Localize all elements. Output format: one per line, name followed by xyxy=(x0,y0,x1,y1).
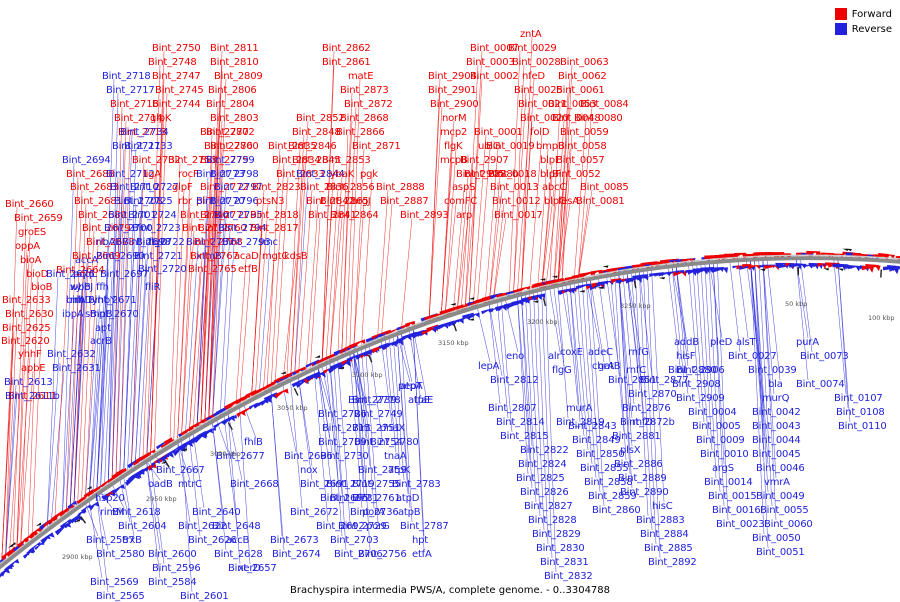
label-leader-line xyxy=(306,204,318,373)
gene-label[interactable]: Bint_0013 xyxy=(490,183,539,193)
gene-label[interactable]: ibpA xyxy=(62,310,84,320)
gene-label[interactable]: Bint_2749 xyxy=(354,410,403,420)
gene-label[interactable]: xerD xyxy=(238,564,261,574)
gene-label[interactable]: Bint_2783 xyxy=(392,480,441,490)
gene-label[interactable]: Bint_0080 xyxy=(574,114,623,124)
gene-label[interactable]: apt xyxy=(95,324,111,334)
gene-label[interactable]: Bint_2733 xyxy=(124,142,173,152)
label-leader-line xyxy=(263,259,274,394)
label-leader-line xyxy=(457,218,468,313)
gene-label[interactable]: Bint_0044 xyxy=(752,436,801,446)
gene-label[interactable]: Bint_0058 xyxy=(558,142,607,152)
label-leader-line xyxy=(326,364,338,480)
gene-label[interactable]: yhhF xyxy=(18,350,42,360)
gene-label[interactable]: Bint_2868 xyxy=(340,114,389,124)
legend-label-forward: Forward xyxy=(852,9,892,20)
label-leader-line xyxy=(401,218,412,333)
gene-label[interactable]: Bint_2787 xyxy=(400,522,449,532)
gene-label[interactable]: Bint_2893 xyxy=(400,211,449,221)
gene-label[interactable]: Bint_2826 xyxy=(520,488,569,498)
gene-label[interactable]: Bint_2861 xyxy=(322,58,371,68)
gene-label[interactable]: Bint_2730 xyxy=(320,452,369,462)
gene-label[interactable]: pgk xyxy=(360,170,378,180)
gene-label[interactable]: atpB xyxy=(398,508,420,518)
gene-label[interactable]: tfaE xyxy=(414,396,433,406)
gene-label[interactable]: Bint_2618 xyxy=(112,508,161,518)
gene-label[interactable]: glpK xyxy=(150,114,171,124)
gene-label[interactable]: hsp20 xyxy=(95,494,125,504)
gene-label[interactable]: Bint_2828 xyxy=(528,516,577,526)
axis-tick-label: 3150 kbp xyxy=(438,339,469,347)
gene-label[interactable]: Bint_2640 xyxy=(192,508,241,518)
gene-label[interactable]: Bint_2866 xyxy=(336,128,385,138)
gene-label[interactable]: argS xyxy=(712,464,734,474)
gene-label[interactable]: coxE xyxy=(560,348,583,358)
gene-label[interactable]: Bint_0074 xyxy=(796,380,845,390)
gene-label[interactable]: Bint_0016 xyxy=(712,506,761,516)
gene-label[interactable]: Bint_2756 xyxy=(358,550,407,560)
gene-label[interactable]: Bint_2667 xyxy=(156,466,205,476)
gene-label[interactable]: Bint_0045 xyxy=(752,450,801,460)
gene-label[interactable]: Bint_2674 xyxy=(272,550,321,560)
gene-label[interactable]: hpt xyxy=(412,536,428,546)
gene-label[interactable]: Bint_0001 xyxy=(474,128,523,138)
rna-feature-marker xyxy=(36,523,41,527)
gene-label[interactable]: adeC xyxy=(588,348,613,358)
gene-label[interactable]: Bint_0055 xyxy=(760,506,809,516)
label-leader-line xyxy=(429,93,440,322)
gene-label[interactable]: oppA xyxy=(15,242,40,252)
gene-label[interactable]: Bint_2885 xyxy=(644,544,693,554)
gene-label[interactable]: Bint_0012 xyxy=(492,197,541,207)
gene-label[interactable]: acaD xyxy=(234,252,259,262)
gene-label[interactable]: Bint_2676 xyxy=(46,270,95,280)
gene-label[interactable]: Bint_0107 xyxy=(834,394,883,404)
gene-label[interactable]: Bint_2630 xyxy=(5,310,54,320)
gene-label[interactable]: Bint_2888 xyxy=(376,183,425,193)
gene-label[interactable]: Bint_0039 xyxy=(748,366,797,376)
gene-label[interactable]: Bint_2862 xyxy=(322,44,371,54)
rna-feature-marker xyxy=(280,371,285,374)
gene-label[interactable]: folD xyxy=(530,128,549,138)
gene-label[interactable]: Bint_0081 xyxy=(576,197,625,207)
axis-tick-label: 3200 kbp xyxy=(527,318,558,326)
gene-label[interactable]: Bint_2887 xyxy=(380,197,429,207)
gene-label[interactable]: Bint_2804 xyxy=(206,100,255,110)
gene-label[interactable]: Bint_2831 xyxy=(540,558,589,568)
label-leader-line xyxy=(578,204,588,281)
gene-label[interactable]: Bint_2632 xyxy=(47,350,96,360)
gene-label[interactable]: Bint_2901 xyxy=(428,86,477,96)
gene-label[interactable]: Bint_2724 xyxy=(128,211,177,221)
gene-label[interactable]: nox xyxy=(300,466,317,476)
gene-label[interactable]: argJ xyxy=(352,197,371,207)
gene-label[interactable]: dnaX xyxy=(380,424,405,434)
gene-label[interactable]: Bint_2799 xyxy=(206,156,255,166)
gene-label[interactable]: Bint_2889 xyxy=(618,474,667,484)
rna-feature-marker xyxy=(86,486,91,489)
gene-label[interactable]: Bint_0050 xyxy=(752,534,801,544)
gene-label[interactable]: Bint_2909 xyxy=(676,394,725,404)
gene-label[interactable]: Bint_2827 xyxy=(524,502,573,512)
gene-label[interactable]: Bint_0029 xyxy=(508,44,557,54)
gene-label[interactable]: Bint_2900 xyxy=(430,100,479,110)
gene-label[interactable]: Bint_2906 xyxy=(676,366,725,376)
label-leader-line xyxy=(381,204,392,340)
gene-label[interactable]: Bint_0010 xyxy=(700,450,749,460)
gene-label[interactable]: Bint_2825 xyxy=(516,474,565,484)
axis-tick-label: 3000 kbp xyxy=(210,450,241,458)
gene-label[interactable]: gatB xyxy=(598,362,620,372)
axis-tick-label: 2900 kbp xyxy=(62,553,93,561)
gene-label[interactable]: zntA xyxy=(520,30,542,40)
gene-label[interactable]: Bint_2856 xyxy=(326,183,375,193)
gene-label[interactable]: flgK xyxy=(444,142,462,152)
gene-label[interactable]: Bint_2807 xyxy=(488,404,537,414)
legend-item-forward[interactable]: Forward xyxy=(835,8,892,20)
axis-tick-mark xyxy=(294,388,298,395)
gene-label[interactable]: acrB xyxy=(90,337,112,347)
gene-label[interactable]: Bint_2725 xyxy=(124,197,173,207)
gene-label[interactable]: Bint_2815 xyxy=(500,432,549,442)
label-leader-line xyxy=(5,392,17,563)
gene-label[interactable]: Bint_0062 xyxy=(558,72,607,82)
gene-label[interactable]: Bint_2892 xyxy=(648,558,697,568)
gene-label[interactable]: Bint_2671 xyxy=(88,296,137,306)
gene-label[interactable]: purA xyxy=(796,338,819,348)
label-leader-line xyxy=(108,93,118,487)
gene-label[interactable]: Bint_0057 xyxy=(556,156,605,166)
gene-label[interactable]: Bint_0017 xyxy=(494,211,543,221)
gene-label[interactable]: Bint_2596 xyxy=(152,564,201,574)
gene-label[interactable]: Bint_2633 xyxy=(2,296,51,306)
gene-label[interactable]: Bint_0110 xyxy=(838,422,887,432)
gene-label[interactable]: rnfG xyxy=(628,348,649,358)
gene-label[interactable]: bioD xyxy=(26,270,48,280)
gene-label[interactable]: bioA xyxy=(20,256,41,266)
gene-label[interactable]: arp xyxy=(456,211,472,221)
label-leader-line xyxy=(627,272,640,348)
gene-label[interactable]: apbE xyxy=(21,364,45,374)
gene-label[interactable]: groES xyxy=(18,228,46,238)
gene-label[interactable]: pepT xyxy=(398,382,422,392)
gene-label[interactable]: matE xyxy=(348,72,373,82)
gene-label[interactable]: Bint_2723 xyxy=(132,224,181,234)
gene-label[interactable]: Bint_2613 xyxy=(4,378,53,388)
label-leader-line xyxy=(834,258,846,394)
gene-label[interactable]: Bint_2810 xyxy=(210,58,259,68)
gene-label[interactable]: Bint_2604 xyxy=(118,522,167,532)
gene-label[interactable]: Bint_0084 xyxy=(580,100,629,110)
gene-label[interactable]: Bint_2802 xyxy=(206,128,255,138)
gene-label[interactable]: Bint_2809 xyxy=(214,72,263,82)
gene-label[interactable]: Bint_2798 xyxy=(210,170,259,180)
axis-tick-label: 50 kbp xyxy=(785,300,807,308)
gene-label[interactable]: Bint_0061 xyxy=(556,86,605,96)
gene-label[interactable]: wbbJ xyxy=(70,283,93,293)
gene-label[interactable]: Bint_0051 xyxy=(756,548,805,558)
gene-label[interactable]: lepA xyxy=(478,362,499,372)
gene-label[interactable]: Bint_0046 xyxy=(756,464,805,474)
gene-label[interactable]: Bint_2747 xyxy=(152,72,201,82)
gene-label[interactable]: Bint_2803 xyxy=(210,114,259,124)
gene-label[interactable]: Bint_2884 xyxy=(640,530,689,540)
gene-label[interactable]: Bint_2848 xyxy=(292,128,341,138)
genome-map-viewport[interactable]: Bint_2660Bint_2659groESoppAbioAbioDbioBB… xyxy=(0,0,900,600)
axis-tick-label: 3050 kbp xyxy=(277,404,308,412)
gene-label[interactable]: Bint_2767 xyxy=(190,252,239,262)
gene-label[interactable]: Bint_2876 xyxy=(622,404,671,414)
axis-tick-mark xyxy=(544,298,546,306)
gene-label[interactable]: aspS xyxy=(452,183,475,193)
gene-label[interactable]: Bint_0060 xyxy=(764,520,813,530)
gene-label[interactable]: Bint_2673 xyxy=(270,536,319,546)
gene-label[interactable]: Bint_2886 xyxy=(614,460,663,470)
gene-label[interactable]: Bint_2908 xyxy=(672,380,721,390)
gene-label[interactable]: Bint_2765 xyxy=(188,265,237,275)
gene-label[interactable]: glpF xyxy=(172,183,192,193)
gene-label[interactable]: alr xyxy=(548,352,560,362)
rna-feature-marker xyxy=(603,265,609,267)
label-leader-line xyxy=(66,303,78,516)
gene-label[interactable]: Bint_0063 xyxy=(560,58,609,68)
gene-label[interactable]: Bint_2580 xyxy=(96,550,145,560)
gene-label[interactable]: Bint_2722 xyxy=(136,238,185,248)
gene-label[interactable]: Bint_0085 xyxy=(580,183,629,193)
gene-label[interactable]: Bint_2720 xyxy=(138,265,187,275)
gene-label[interactable]: Bint_0043 xyxy=(752,422,801,432)
gene-label[interactable]: Bint_2873 xyxy=(340,86,389,96)
gene-label[interactable]: Bint_0015 xyxy=(708,492,757,502)
gene-label[interactable]: Bint_2628 xyxy=(214,550,263,560)
gene-label[interactable]: bioB xyxy=(31,283,52,293)
gene-label[interactable]: Bint_0052 xyxy=(552,170,601,180)
gene-label[interactable]: hisC xyxy=(652,502,673,512)
gene-label[interactable]: Bint_2703 xyxy=(330,536,379,546)
label-leader-line xyxy=(9,399,20,560)
gene-label[interactable]: Bint_2864 xyxy=(330,211,379,221)
gene-label[interactable]: Bint_2860 xyxy=(592,506,641,516)
gene-label[interactable]: alsT xyxy=(736,338,755,348)
gene-label[interactable]: Bint_2800 xyxy=(210,142,259,152)
gene-label[interactable]: murQ xyxy=(762,394,789,404)
gene-label[interactable]: Bint_2718 xyxy=(102,72,151,82)
gene-label[interactable]: etfA xyxy=(412,550,432,560)
gene-label[interactable]: Bint_2660 xyxy=(5,200,54,210)
gene-label[interactable]: Bint_2625 xyxy=(2,324,51,334)
gene-label[interactable]: Bint_2748 xyxy=(148,58,197,68)
gene-label[interactable]: atpD xyxy=(396,494,419,504)
gene-label[interactable]: Bint_0018 xyxy=(488,170,537,180)
label-leader-line xyxy=(244,404,257,438)
gene-label[interactable]: Bint_2818 xyxy=(250,211,299,221)
gene-label[interactable]: ffh xyxy=(96,283,109,293)
gene-label[interactable]: Bint_2812 xyxy=(490,376,539,386)
gene-label[interactable]: rbr xyxy=(178,197,192,207)
axis-tick-label: 100 kbp xyxy=(868,314,895,322)
gene-label[interactable]: fliR xyxy=(145,283,160,293)
legend-label-reverse: Reverse xyxy=(852,24,892,35)
gene-label[interactable]: Bint_0027 xyxy=(728,352,777,362)
gene-label[interactable]: Bint_2824 xyxy=(518,460,567,470)
gene-label[interactable]: porG xyxy=(366,522,390,532)
gene-label[interactable]: plsX xyxy=(620,446,640,456)
gene-label[interactable]: flgG xyxy=(552,366,572,376)
genome-caption: Brachyspira intermedia PWS/A, complete g… xyxy=(0,585,900,596)
gene-label[interactable]: rnfD xyxy=(632,418,653,428)
label-leader-line xyxy=(566,284,578,404)
gene-label[interactable]: fhlB xyxy=(244,438,263,448)
gene-label[interactable]: Bint_2871 xyxy=(352,142,401,152)
gene-label[interactable]: Bint_0019 xyxy=(486,142,535,152)
gene-label[interactable]: Bint_0003 xyxy=(466,58,515,68)
gene-label[interactable]: Bint_2830 xyxy=(536,544,585,554)
label-leader-line xyxy=(586,280,600,492)
gene-label[interactable]: Bint_2829 xyxy=(532,530,581,540)
gene-label[interactable]: Bint_0002 xyxy=(470,72,519,82)
gene-label[interactable]: ribD xyxy=(72,296,92,306)
gene-label[interactable]: Bint_2817 xyxy=(250,224,299,234)
gene-label[interactable]: ptsN3 xyxy=(256,197,284,207)
label-leader-line xyxy=(236,259,246,408)
gene-label[interactable]: Bint_2853 xyxy=(322,156,371,166)
axis-tick-label: 3100 kbp xyxy=(352,371,383,379)
gene-label[interactable]: hisF xyxy=(676,352,695,362)
label-leader-line xyxy=(271,390,284,550)
label-leader-line xyxy=(330,218,342,362)
rna-feature-marker xyxy=(823,268,829,270)
gene-label[interactable]: addB xyxy=(674,338,699,348)
gene-label[interactable]: norM xyxy=(442,114,466,124)
gene-label[interactable]: ybaK xyxy=(330,170,354,180)
gene-label[interactable]: Bint_2631 xyxy=(52,364,101,374)
gene-label[interactable]: vmrA xyxy=(764,478,790,488)
forward-color-swatch xyxy=(835,8,847,20)
gene-label[interactable]: etfB xyxy=(238,265,258,275)
gene-label[interactable]: Bint_0049 xyxy=(756,492,805,502)
gene-label[interactable]: Bint_0059 xyxy=(560,128,609,138)
gene-label[interactable]: Bint_2620 xyxy=(1,337,50,347)
rna-feature-marker xyxy=(579,290,585,292)
gene-label[interactable]: Bint_2780 xyxy=(370,438,419,448)
gene-label[interactable]: Bint_0028 xyxy=(512,58,561,68)
gene-label[interactable]: oadB xyxy=(148,480,173,490)
rna-feature-marker xyxy=(314,355,319,357)
gene-label[interactable]: Bint_2907 xyxy=(460,156,509,166)
gene-label[interactable]: kdsB xyxy=(284,252,307,262)
gene-label[interactable]: Bint_2890 xyxy=(620,488,669,498)
gene-label[interactable]: atpK xyxy=(388,466,410,476)
gene-label[interactable]: Bint_0023 xyxy=(716,520,765,530)
label-leader-line xyxy=(489,303,500,404)
gene-label[interactable]: ligA xyxy=(143,170,161,180)
gene-label[interactable]: comFC xyxy=(444,197,477,207)
legend-item-reverse[interactable]: Reverse xyxy=(835,23,892,35)
axis-tick-label: 3250 kbp xyxy=(620,302,651,310)
rna-feature-marker xyxy=(760,269,766,271)
gene-label[interactable]: abcC xyxy=(542,183,566,193)
gene-label[interactable]: Bint_2852 xyxy=(296,114,345,124)
label-leader-line xyxy=(228,413,242,480)
label-leader-line xyxy=(672,266,686,338)
gene-label[interactable]: Bint_2870 xyxy=(628,390,677,400)
gene-label[interactable]: Bint_2750 xyxy=(152,44,201,54)
gene-label[interactable]: mcp2 xyxy=(440,128,467,138)
gene-arrow xyxy=(712,267,728,273)
gene-label[interactable]: Bint_2883 xyxy=(636,516,685,526)
gene-arrow xyxy=(848,265,861,271)
gene-label[interactable]: Bint_0073 xyxy=(800,352,849,362)
gene-label[interactable]: bla xyxy=(768,380,783,390)
gene-label[interactable]: ribAB xyxy=(96,238,122,248)
gene-label[interactable]: porA xyxy=(362,508,385,518)
strand-legend: Forward Reverse xyxy=(835,8,892,35)
label-leader-line xyxy=(493,218,506,302)
gene-label[interactable]: Bint_2587 xyxy=(86,536,135,546)
gene-label[interactable]: Bint_2778 xyxy=(352,396,401,406)
gene-label[interactable]: Bint_2668 xyxy=(230,480,279,490)
gene-label[interactable]: murA xyxy=(566,404,592,414)
gene-label[interactable]: Bint_2811 xyxy=(210,44,259,54)
gene-label[interactable]: Bint_2872 xyxy=(344,100,393,110)
gene-label[interactable]: Bint_2846 xyxy=(288,142,337,152)
gene-label[interactable]: Bint_2670 xyxy=(90,310,139,320)
label-leader-line xyxy=(70,290,82,514)
gene-label[interactable]: mtrC xyxy=(178,480,202,490)
gene-label[interactable]: Bint_2823 xyxy=(252,183,301,193)
gene-label[interactable]: Bint_0005 xyxy=(692,422,741,432)
gene-label[interactable]: Bint_2659 xyxy=(14,214,63,224)
gene-label[interactable]: Bint_2843 xyxy=(568,422,617,432)
gene-label[interactable]: Bint_0004 xyxy=(688,408,737,418)
gene-label[interactable]: Bint_2796 xyxy=(210,197,259,207)
gene-label[interactable]: Bint_2721 xyxy=(134,252,183,262)
gene-label[interactable]: Bint_2611b xyxy=(5,392,60,402)
gene-label[interactable]: Bint_2672 xyxy=(290,508,339,518)
gene-label[interactable]: Bint_2832 xyxy=(544,572,593,582)
axis-tick-mark xyxy=(881,270,882,278)
gene-label[interactable]: tnaA xyxy=(384,452,406,462)
label-leader-line xyxy=(738,260,748,338)
gene-label[interactable]: Bint_0042 xyxy=(752,408,801,418)
gene-label[interactable]: Bint_2822 xyxy=(520,446,569,456)
label-leader-line xyxy=(240,272,250,406)
gene-label[interactable]: pleD xyxy=(710,338,732,348)
gene-label[interactable]: Bint_0108 xyxy=(836,408,885,418)
reverse-color-swatch xyxy=(835,23,847,35)
gene-label[interactable]: Bint_2761 xyxy=(352,494,401,504)
rna-feature-marker xyxy=(659,277,665,279)
gene-label[interactable]: Bint_2600 xyxy=(148,550,197,560)
gene-label[interactable]: Bint_0009 xyxy=(696,436,745,446)
gene-label[interactable]: Bint_2881 xyxy=(612,432,661,442)
gene-label[interactable]: Bint_2744 xyxy=(152,100,201,110)
gene-label[interactable]: Bint_2814 xyxy=(496,418,545,428)
gene-label[interactable]: smc xyxy=(258,238,278,248)
gene-label[interactable]: Bint_2717 xyxy=(106,86,155,96)
gene-label[interactable]: accB xyxy=(226,536,249,546)
axis-tick-mark xyxy=(454,324,457,332)
gene-label[interactable]: Bint_2734 xyxy=(120,128,169,138)
gene-label[interactable]: nfeD xyxy=(522,72,545,82)
gene-label[interactable]: Bint_2648 xyxy=(212,522,261,532)
gene-label[interactable]: eno xyxy=(506,352,524,362)
rna-feature-marker xyxy=(450,303,456,305)
gene-label[interactable]: Bint_0014 xyxy=(704,478,753,488)
gene-label[interactable]: Bint_2806 xyxy=(208,86,257,96)
gene-label[interactable]: Bint_2694 xyxy=(62,156,111,166)
gene-label[interactable]: Bint_2745 xyxy=(155,86,204,96)
